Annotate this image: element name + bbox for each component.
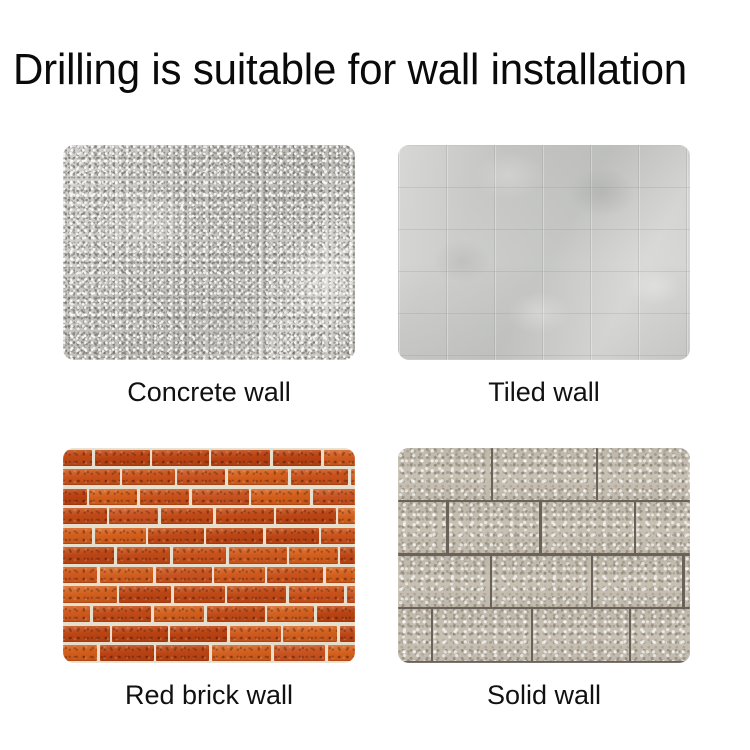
brick-unit	[229, 547, 287, 563]
solid-wall-image	[398, 448, 690, 663]
brick-unit	[177, 469, 225, 485]
brick-unit	[289, 547, 338, 563]
brick-unit	[63, 645, 97, 661]
stone-block	[533, 609, 629, 661]
red-brick-wall-image	[63, 448, 355, 663]
brick-unit	[89, 489, 137, 505]
brick-unit	[63, 508, 107, 524]
stone-block	[593, 556, 682, 608]
wall-card-red-brick[interactable]: Red brick wall	[63, 448, 355, 711]
stone-block	[598, 448, 690, 500]
tiled-wall-image	[398, 145, 690, 360]
stone-block	[398, 448, 491, 500]
brick-unit	[140, 489, 189, 505]
brick-unit	[152, 450, 208, 466]
caption-tiled-wall: Tiled wall	[398, 376, 690, 408]
brick-unit	[267, 606, 314, 622]
brick-unit	[95, 528, 146, 544]
brick-course	[63, 448, 355, 468]
brick-unit	[173, 547, 226, 563]
stone-block	[631, 609, 690, 661]
brick-unit	[228, 469, 288, 485]
stone-block	[398, 556, 490, 608]
brick-unit	[207, 606, 265, 622]
concrete-wall-image	[63, 145, 355, 360]
brick-unit	[63, 489, 87, 505]
brick-unit	[211, 450, 270, 466]
brick-unit	[95, 450, 150, 466]
brick-unit	[351, 469, 355, 485]
stone-block	[449, 502, 540, 554]
wall-type-grid: Concrete wall Tiled wall Red brick wall …	[0, 0, 750, 750]
brick-unit	[338, 508, 355, 524]
brick-course	[63, 565, 355, 585]
brick-unit	[227, 586, 286, 602]
brick-course	[63, 585, 355, 605]
brick-unit	[93, 606, 152, 622]
brick-unit	[313, 489, 355, 505]
wall-card-concrete[interactable]: Concrete wall	[63, 145, 355, 408]
brick-unit	[112, 626, 167, 642]
brick-unit	[324, 450, 355, 466]
caption-concrete-wall: Concrete wall	[63, 376, 355, 408]
stone-course	[398, 556, 690, 610]
stone-block	[492, 556, 591, 608]
brick-unit	[63, 586, 117, 602]
brick-course	[63, 526, 355, 546]
brick-unit	[63, 606, 90, 622]
brick-unit	[212, 645, 271, 661]
brick-unit	[117, 547, 170, 563]
brick-unit	[154, 606, 204, 622]
brick-unit	[289, 586, 344, 602]
brick-unit	[63, 547, 114, 563]
brick-course	[63, 507, 355, 527]
stone-block	[636, 502, 690, 554]
brick-unit	[274, 645, 326, 661]
brick-unit	[119, 586, 171, 602]
stone-block	[433, 609, 530, 661]
brick-course	[63, 604, 355, 624]
infographic-page: Drilling is suitable for wall installati…	[0, 0, 750, 750]
brick-unit	[156, 567, 212, 583]
brick-unit	[100, 645, 154, 661]
brick-unit	[273, 450, 321, 466]
brick-unit	[63, 450, 92, 466]
brick-unit	[192, 489, 249, 505]
brick-unit	[321, 528, 355, 544]
brick-unit	[161, 508, 213, 524]
brick-unit	[266, 528, 319, 544]
brick-unit	[276, 508, 335, 524]
stone-block	[493, 448, 596, 500]
brick-unit	[100, 567, 154, 583]
stone-block	[398, 502, 446, 554]
brick-unit	[63, 567, 97, 583]
brick-unit	[291, 469, 348, 485]
brick-unit	[63, 626, 110, 642]
brick-course	[63, 546, 355, 566]
brick-unit	[216, 508, 274, 524]
brick-course	[63, 487, 355, 507]
stone-course	[398, 502, 690, 556]
brick-course	[63, 644, 355, 664]
brick-unit	[340, 547, 355, 563]
caption-solid-wall: Solid wall	[398, 679, 690, 711]
stone-block	[685, 556, 690, 608]
brick-unit	[170, 626, 227, 642]
brick-unit	[148, 528, 203, 544]
brick-unit	[156, 645, 208, 661]
brick-unit	[63, 528, 92, 544]
brick-unit	[122, 469, 174, 485]
brick-unit	[174, 586, 225, 602]
brick-unit	[317, 606, 355, 622]
brick-unit	[328, 645, 355, 661]
stone-block	[398, 609, 431, 661]
stone-course	[398, 448, 690, 502]
brick-course	[63, 624, 355, 644]
brick-unit	[283, 626, 337, 642]
wall-card-tiled[interactable]: Tiled wall	[398, 145, 690, 408]
brick-unit	[326, 567, 356, 583]
caption-red-brick-wall: Red brick wall	[63, 679, 355, 711]
brick-unit	[109, 508, 158, 524]
brick-unit	[214, 567, 264, 583]
brick-unit	[63, 469, 120, 485]
wall-card-solid[interactable]: Solid wall	[398, 448, 690, 711]
brick-unit	[251, 489, 310, 505]
brick-course	[63, 468, 355, 488]
brick-unit	[230, 626, 281, 642]
stone-block	[542, 502, 634, 554]
stone-course	[398, 609, 690, 663]
brick-unit	[347, 586, 355, 602]
brick-unit	[340, 626, 355, 642]
brick-unit	[206, 528, 263, 544]
brick-unit	[267, 567, 323, 583]
